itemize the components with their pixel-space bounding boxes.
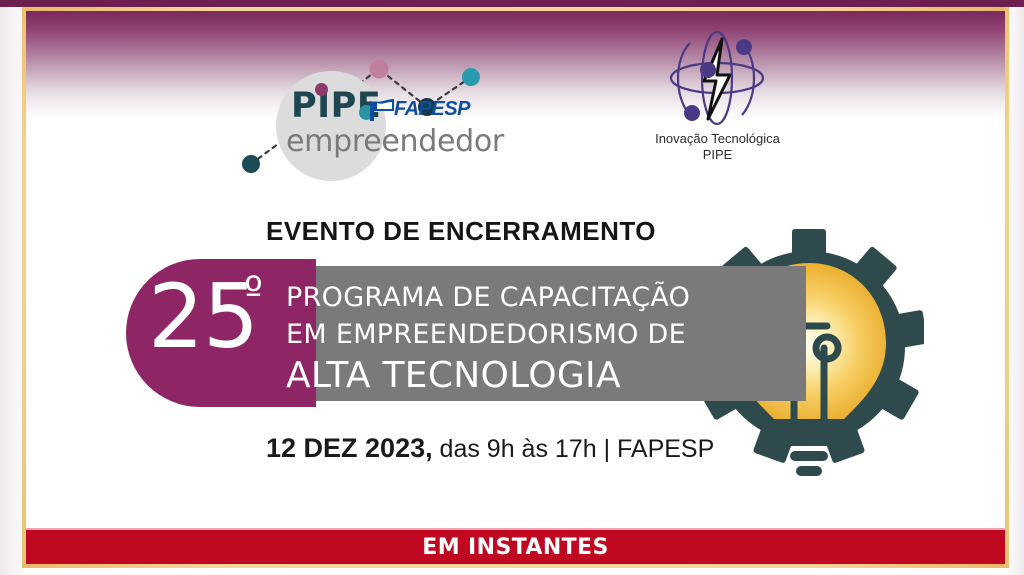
page-title-kicker: EVENTO DE ENCERRAMENTO: [266, 216, 656, 247]
edition-number: 25: [148, 265, 258, 368]
event-slide: PIPE empreendedor FAPESP: [0, 0, 1024, 575]
left-edge-strip: [0, 0, 24, 575]
event-time-and-venue: das 9h às 17h | FAPESP: [433, 435, 715, 463]
banner-hairline: [26, 528, 1005, 530]
slide-canvas: PIPE empreendedor FAPESP: [26, 11, 1005, 564]
top-purple-border: [0, 0, 1024, 7]
pipe-i-dot-icon: [315, 83, 328, 96]
gold-border-top: [22, 7, 1009, 11]
status-badge: EM INSTANTES: [422, 535, 608, 560]
right-edge-strip: [1008, 0, 1024, 575]
fapesp-logo: FAPESP: [368, 93, 468, 125]
edition-ordinal-mark: º: [244, 269, 263, 315]
inovacao-caption: Inovação Tecnológica PIPE: [630, 131, 805, 163]
status-banner: EM INSTANTES: [26, 530, 1005, 564]
program-title-text: PROGRAMA DE CAPACITAÇÃO EM EMPREENDEDORI…: [286, 279, 690, 399]
program-title-line-1: PROGRAMA DE CAPACITAÇÃO: [286, 279, 690, 316]
pipe-subtitle: empreendedor: [286, 124, 504, 159]
fapesp-flag-icon: [368, 97, 396, 123]
gold-border-right: [1005, 7, 1009, 568]
program-title-line-3: ALTA TECNOLOGIA: [286, 353, 690, 399]
inovacao-tecnologica-pipe-logo: Inovação Tecnológica PIPE: [630, 23, 805, 178]
program-title-line-2: EM EMPREENDEDORISMO DE: [286, 316, 690, 353]
atom-orbit-lightning-icon: [630, 23, 805, 133]
program-title-bar: 25 º PROGRAMA DE CAPACITAÇÃO EM EMPREEND…: [126, 259, 806, 404]
gold-border-bottom: [22, 564, 1009, 568]
fapesp-wordmark: FAPESP: [394, 98, 470, 121]
inovacao-caption-line1: Inovação Tecnológica: [630, 131, 805, 147]
event-datetime-line: 12 DEZ 2023, das 9h às 17h | FAPESP: [266, 433, 714, 464]
gold-border-left: [22, 7, 26, 568]
event-date: 12 DEZ 2023,: [266, 433, 433, 463]
inovacao-caption-line2: PIPE: [630, 147, 805, 163]
